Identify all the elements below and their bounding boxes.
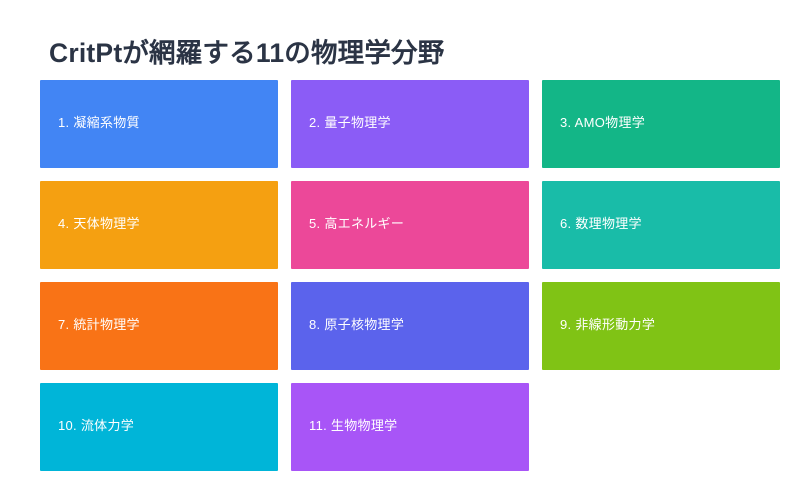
- physics-domain-grid: 1. 凝縮系物質2. 量子物理学3. AMO物理学4. 天体物理学5. 高エネル…: [40, 80, 780, 471]
- domain-card[interactable]: 10. 流体力学: [40, 383, 278, 471]
- domain-card-label: 4. 天体物理学: [40, 215, 278, 235]
- domain-card[interactable]: 9. 非線形動力学: [542, 282, 780, 370]
- domain-card[interactable]: 11. 生物物理学: [291, 383, 529, 471]
- domain-card[interactable]: 4. 天体物理学: [40, 181, 278, 269]
- domain-card-label: 8. 原子核物理学: [291, 316, 529, 336]
- domain-card-label: 6. 数理物理学: [542, 215, 780, 235]
- domain-card-label: 1. 凝縮系物質: [40, 114, 278, 134]
- domain-card[interactable]: 1. 凝縮系物質: [40, 80, 278, 168]
- domain-card[interactable]: 2. 量子物理学: [291, 80, 529, 168]
- domain-card-label: 10. 流体力学: [40, 417, 278, 437]
- domain-card-label: 11. 生物物理学: [291, 417, 529, 437]
- domain-card-label: 2. 量子物理学: [291, 114, 529, 134]
- domain-card-label: 7. 統計物理学: [40, 316, 278, 336]
- domain-card[interactable]: 3. AMO物理学: [542, 80, 780, 168]
- domain-card-label: 9. 非線形動力学: [542, 316, 780, 336]
- domain-card-label: 3. AMO物理学: [542, 114, 780, 134]
- domain-card[interactable]: 6. 数理物理学: [542, 181, 780, 269]
- slide-canvas: CritPtが網羅する11の物理学分野 1. 凝縮系物質2. 量子物理学3. A…: [0, 0, 800, 500]
- domain-card-label: 5. 高エネルギー: [291, 215, 529, 235]
- domain-card[interactable]: 5. 高エネルギー: [291, 181, 529, 269]
- page-title: CritPtが網羅する11の物理学分野: [49, 36, 444, 70]
- domain-card[interactable]: 7. 統計物理学: [40, 282, 278, 370]
- domain-card[interactable]: 8. 原子核物理学: [291, 282, 529, 370]
